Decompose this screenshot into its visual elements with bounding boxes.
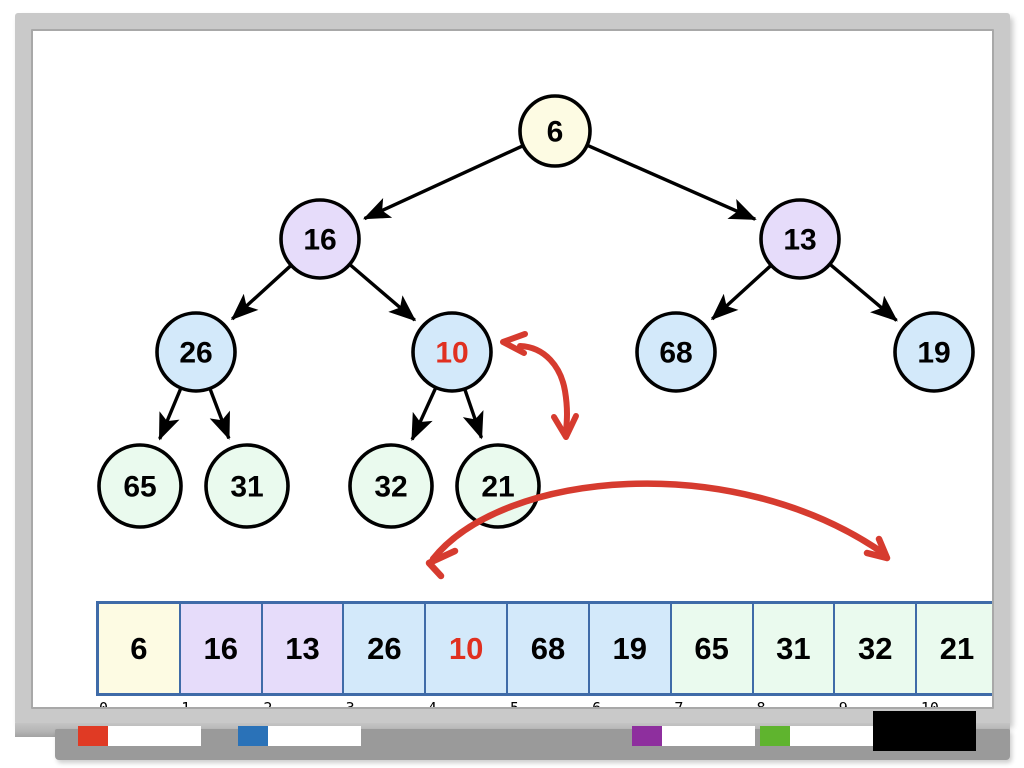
array-index-label-1: 1 — [178, 699, 260, 707]
tree-edge-n0-n1 — [365, 146, 523, 219]
whiteboard-canvas: 616132610681965313221 616132610681965313… — [33, 31, 992, 707]
node-label-6: 6 — [547, 116, 564, 149]
node-label-26: 26 — [179, 337, 212, 370]
array-cell-3[interactable]: 26 — [344, 604, 426, 693]
tree-edge-n1-n3 — [232, 266, 290, 319]
array-index-label-9: 9 — [836, 699, 918, 707]
node-label-10: 10 — [435, 337, 468, 370]
array-index-label-2: 2 — [260, 699, 342, 707]
blue-marker[interactable] — [238, 726, 361, 746]
array-index-label-8: 8 — [754, 699, 836, 707]
array-cell-9[interactable]: 32 — [835, 604, 917, 693]
tree-edge-n3-n8 — [210, 389, 229, 438]
array-cell-1[interactable]: 16 — [181, 604, 263, 693]
tree-node-65[interactable]: 65 — [99, 445, 181, 527]
tree-node-6[interactable]: 6 — [520, 96, 590, 166]
node-label-68: 68 — [659, 337, 692, 370]
array-index-label-6: 6 — [589, 699, 671, 707]
tree-edge-n0-n2 — [588, 146, 755, 220]
array-index-label-5: 5 — [507, 699, 589, 707]
tree-edges — [160, 146, 897, 440]
tree-nodes: 616132610681965313221 — [99, 96, 973, 527]
tree-node-10[interactable]: 10 — [413, 313, 491, 391]
green-marker-body — [790, 726, 883, 746]
node-label-31: 31 — [230, 471, 263, 504]
array-index-label-10: 10 — [918, 699, 992, 707]
purple-marker[interactable] — [632, 726, 755, 746]
array-cell-7[interactable]: 65 — [672, 604, 754, 693]
tree-node-19[interactable]: 19 — [895, 313, 973, 391]
tree-node-31[interactable]: 31 — [206, 445, 288, 527]
array-cell-2[interactable]: 13 — [263, 604, 345, 693]
tree-edge-n4-n10 — [465, 390, 481, 438]
green-marker-cap — [760, 726, 790, 746]
red-marker[interactable] — [78, 726, 201, 746]
array-cell-8[interactable]: 31 — [754, 604, 836, 693]
tree-node-32[interactable]: 32 — [350, 445, 432, 527]
tree-edge-n2-n6 — [831, 265, 897, 321]
blue-marker-cap — [238, 726, 268, 746]
node-label-21: 21 — [481, 471, 514, 504]
node-label-19: 19 — [917, 337, 950, 370]
tree-edge-n4-n9 — [412, 388, 435, 439]
node-label-16: 16 — [303, 224, 336, 257]
green-marker[interactable] — [760, 726, 883, 746]
array-cell-10[interactable]: 21 — [917, 604, 992, 693]
whiteboard-frame: 616132610681965313221 616132610681965313… — [15, 13, 1010, 725]
array-cell-4[interactable]: 10 — [426, 604, 508, 693]
node-label-13: 13 — [783, 224, 816, 257]
red-marker-body — [108, 726, 201, 746]
array-index-label-4: 4 — [425, 699, 507, 707]
black-eraser[interactable] — [873, 711, 976, 751]
blue-marker-body — [268, 726, 361, 746]
whiteboard-scene: 616132610681965313221 616132610681965313… — [0, 0, 1024, 768]
array-index-label-0: 0 — [96, 699, 178, 707]
node-label-32: 32 — [374, 471, 407, 504]
tree-node-26[interactable]: 26 — [157, 313, 235, 391]
tree-edge-n2-n5 — [712, 266, 770, 319]
purple-marker-body — [662, 726, 755, 746]
tree-node-16[interactable]: 16 — [281, 200, 359, 278]
tree-node-68[interactable]: 68 — [637, 313, 715, 391]
array-index-label-7: 7 — [671, 699, 753, 707]
node-label-65: 65 — [123, 471, 156, 504]
tree-edge-n1-n4 — [350, 265, 414, 320]
array-index-label-3: 3 — [343, 699, 425, 707]
array-cell-5[interactable]: 68 — [508, 604, 590, 693]
tree-node-13[interactable]: 13 — [761, 200, 839, 278]
array-representation: 616132610681965313221 — [96, 601, 992, 696]
array-cell-0[interactable]: 6 — [99, 604, 181, 693]
array-index-row: 012345678910 — [96, 699, 992, 707]
small-swap-arrow — [503, 334, 576, 437]
tree-edge-n3-n7 — [160, 389, 181, 439]
red-marker-cap — [78, 726, 108, 746]
purple-marker-cap — [632, 726, 662, 746]
array-cell-6[interactable]: 19 — [590, 604, 672, 693]
